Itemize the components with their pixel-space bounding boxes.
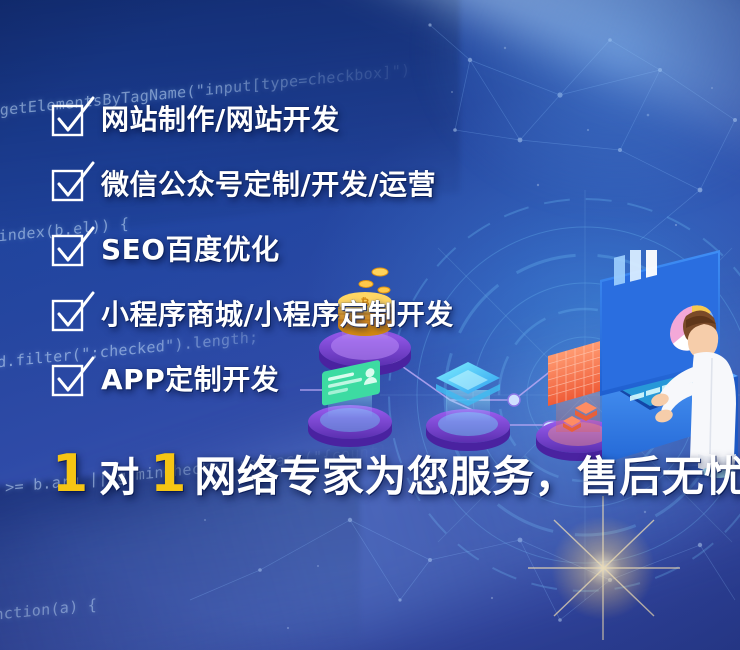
feature-item-seo[interactable]: SEO百度优化 xyxy=(52,228,692,272)
service-feature-list: 网站制作/网站开发 微信公众号定制/开发/运营 xyxy=(52,98,692,402)
feature-label: 网站制作/网站开发 xyxy=(101,104,340,136)
feature-label: SEO百度优化 xyxy=(101,234,280,266)
feature-item-website[interactable]: 网站制作/网站开发 xyxy=(52,98,692,142)
headline-number-first: 1 xyxy=(50,448,90,500)
checkbox-checked-icon xyxy=(52,105,82,135)
feature-label: 小程序商城/小程序定制开发 xyxy=(101,299,454,331)
headline-middle-word: 对 xyxy=(90,452,148,504)
checkbox-checked-icon xyxy=(52,235,82,265)
checkbox-checked-icon xyxy=(52,170,82,200)
feature-item-miniprogram[interactable]: 小程序商城/小程序定制开发 xyxy=(52,293,692,337)
headline-rest-text: 网络专家为您服务，售后无忧！ xyxy=(188,451,740,503)
headline-slogan: 1 对 1 网络专家为您服务，售后无忧！ xyxy=(50,448,740,504)
promo-banner: g.getElementsByTagName("input[type=check… xyxy=(0,0,740,650)
headline-number-second: 1 xyxy=(148,448,188,500)
feature-item-app[interactable]: APP定制开发 xyxy=(52,358,692,402)
feature-item-wechat[interactable]: 微信公众号定制/开发/运营 xyxy=(52,163,692,207)
feature-label: 微信公众号定制/开发/运营 xyxy=(101,169,436,201)
checkbox-checked-icon xyxy=(52,365,82,395)
banner-content: 网站制作/网站开发 微信公众号定制/开发/运营 xyxy=(0,0,740,650)
checkbox-checked-icon xyxy=(52,300,82,330)
feature-label: APP定制开发 xyxy=(101,364,279,396)
